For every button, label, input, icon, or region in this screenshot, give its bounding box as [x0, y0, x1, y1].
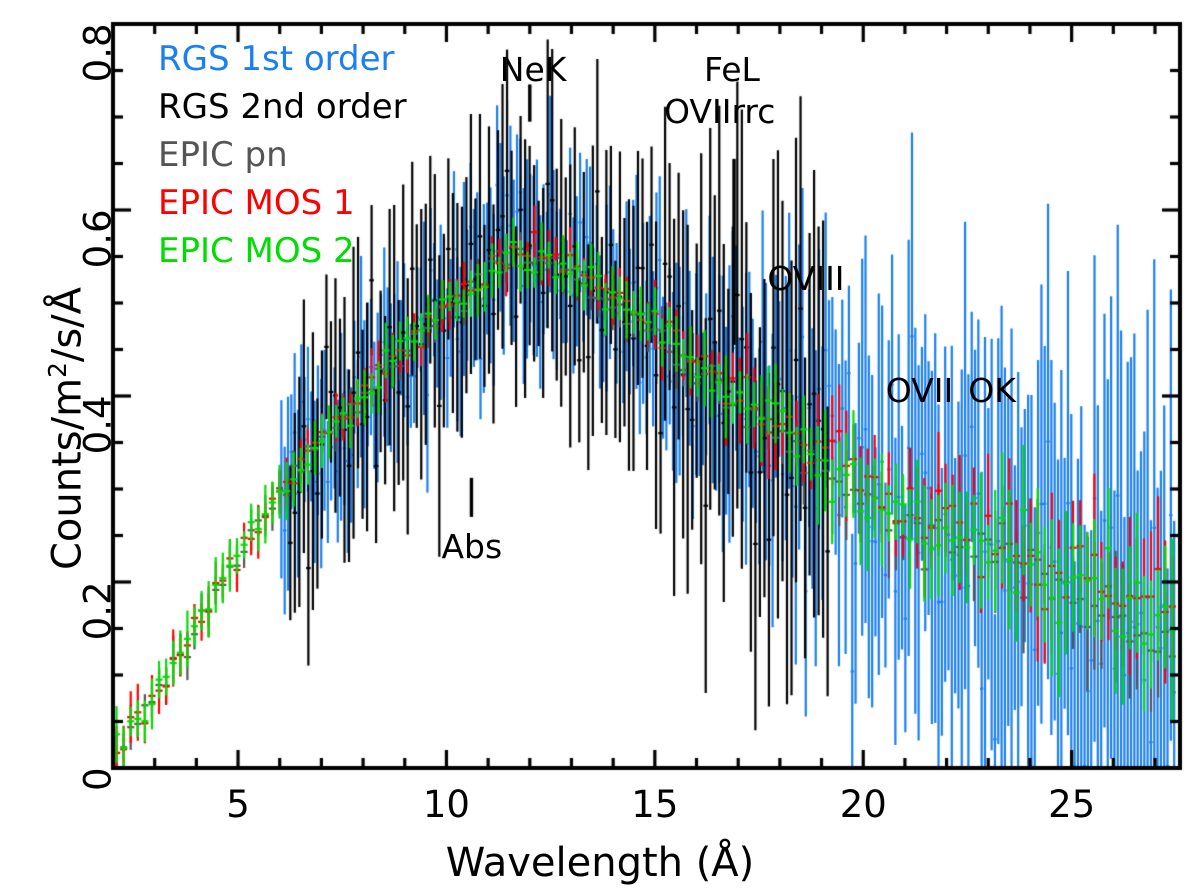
- annotation-ok: OK: [968, 374, 1016, 407]
- x-axis-tick-label: 5: [198, 786, 278, 823]
- spectrum-plot-canvas: [0, 0, 1200, 891]
- y-axis-tick-label: 0.8: [80, 24, 117, 122]
- legend-item-epic-pn: EPIC pn: [158, 138, 288, 172]
- y-axis-tick-label: 0.6: [80, 210, 117, 308]
- x-axis-tick-label: 15: [615, 786, 695, 823]
- x-axis-tick-label: 10: [406, 786, 486, 823]
- legend-item-rgs-2nd-order: RGS 2nd order: [158, 90, 407, 124]
- annotation-abs: Abs: [441, 530, 502, 563]
- spectrum-figure: Counts/m2/s/Å Wavelength (Å) 00.20.40.60…: [0, 0, 1200, 891]
- y-axis-tick-label: 0.4: [80, 396, 117, 494]
- x-axis-label: Wavelength (Å): [0, 843, 1200, 883]
- x-axis-tick-label: 25: [1032, 786, 1112, 823]
- annotation-fel: FeL: [704, 53, 760, 86]
- annotation-ovii: OVII: [886, 374, 953, 407]
- y-axis-label-exponent: 2: [43, 362, 72, 378]
- legend-item-rgs-1st-order: RGS 1st order: [158, 42, 395, 76]
- annotation-nek: NeK: [500, 53, 567, 86]
- annotation-oviii: OVIII: [767, 262, 844, 295]
- annotation-oviirrc: OVIIrrc: [664, 95, 775, 128]
- y-axis-tick-label: 0: [80, 768, 117, 866]
- x-axis-tick-label: 20: [823, 786, 903, 823]
- legend-item-epic-mos-2: EPIC MOS 2: [158, 234, 355, 268]
- legend-item-epic-mos-1: EPIC MOS 1: [158, 186, 355, 220]
- y-axis-tick-label: 0.2: [80, 582, 117, 680]
